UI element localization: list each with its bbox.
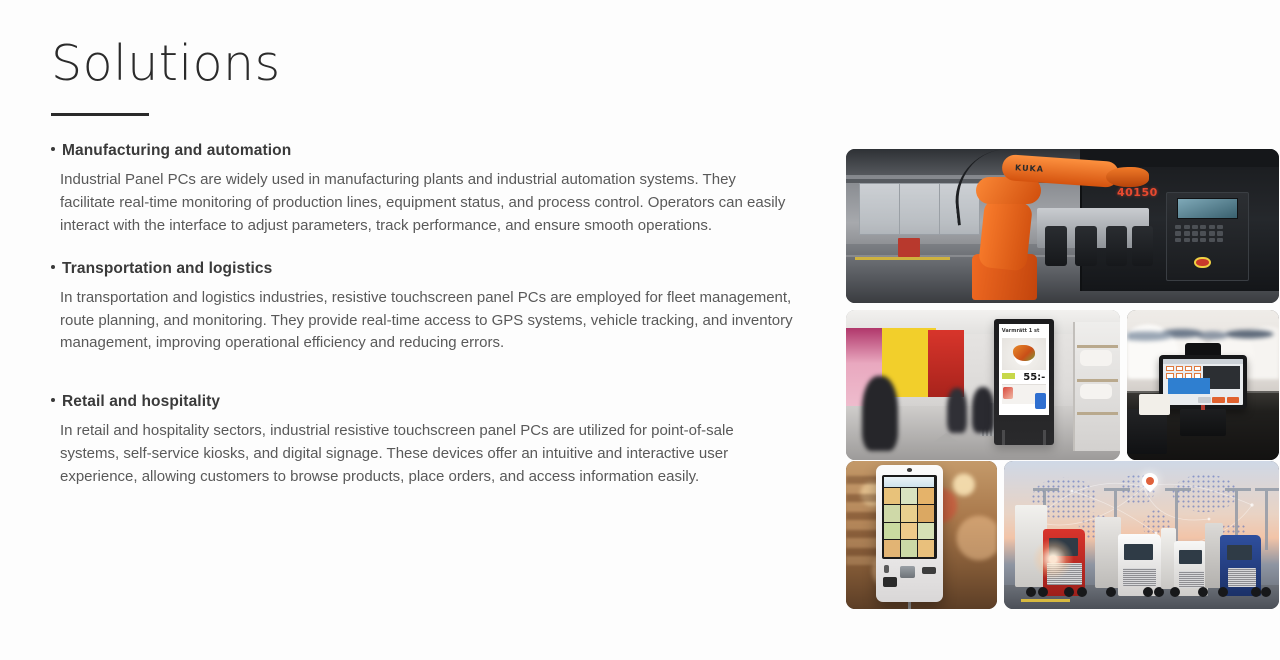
section-heading-label: Transportation and logistics bbox=[62, 260, 272, 278]
section-manufacturing: Manufacturing and automation Industrial … bbox=[51, 142, 811, 237]
bullet-icon bbox=[51, 398, 55, 402]
bullet-icon bbox=[51, 147, 55, 151]
section-heading-label: Manufacturing and automation bbox=[62, 142, 291, 160]
image-self-service-kiosk bbox=[846, 461, 997, 609]
image-factory-robot: 40150 KUKA bbox=[846, 149, 1279, 303]
machine-label: 40150 bbox=[1117, 186, 1158, 199]
signage-heading: Varmrätt 1 st bbox=[1002, 328, 1047, 336]
section-body: In retail and hospitality sectors, indus… bbox=[51, 420, 796, 488]
image-pos-terminal bbox=[1127, 310, 1279, 460]
section-heading: Manufacturing and automation bbox=[51, 142, 811, 160]
digital-signage-kiosk: Varmrätt 1 st 55:- bbox=[994, 319, 1054, 445]
bullet-icon bbox=[51, 265, 55, 269]
section-body: Industrial Panel PCs are widely used in … bbox=[51, 169, 786, 237]
section-retail: Retail and hospitality In retail and hos… bbox=[51, 393, 811, 488]
section-body: In transportation and logistics industri… bbox=[51, 287, 799, 355]
image-retail-digital-signage: Varmrätt 1 st 55:- bbox=[846, 310, 1120, 460]
content-column: Solutions Manufacturing and automation I… bbox=[51, 38, 811, 509]
section-heading: Retail and hospitality bbox=[51, 393, 811, 411]
truck-blue bbox=[1205, 522, 1277, 596]
section-heading: Transportation and logistics bbox=[51, 260, 811, 278]
image-truck-fleet bbox=[1004, 461, 1279, 609]
solutions-slide: Solutions Manufacturing and automation I… bbox=[0, 0, 1280, 660]
page-title: Solutions bbox=[51, 38, 811, 89]
solution-sections: Manufacturing and automation Industrial … bbox=[51, 142, 811, 488]
signage-price: 55:- bbox=[1023, 372, 1045, 383]
title-underline-rule bbox=[51, 113, 149, 116]
section-heading-label: Retail and hospitality bbox=[62, 393, 220, 411]
section-transportation: Transportation and logistics In transpor… bbox=[51, 260, 811, 355]
